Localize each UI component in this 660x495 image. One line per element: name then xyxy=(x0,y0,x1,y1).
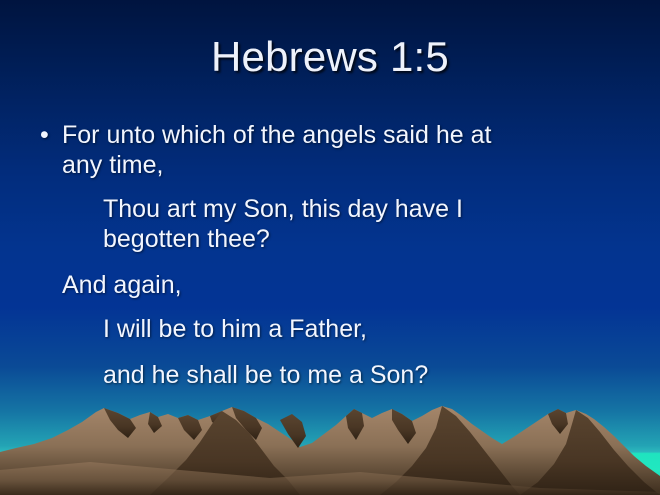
body-block-bullet: • For unto which of the angels said he a… xyxy=(62,120,620,180)
presentation-slide: Hebrews 1:5 • For unto which of the ange… xyxy=(0,0,660,495)
body-line: begotten thee? xyxy=(103,224,620,254)
body-line: I will be to him a Father, xyxy=(103,314,620,344)
body-line: For unto which of the angels said he at xyxy=(62,120,620,150)
body-block-quote-3: and he shall be to me a Son? xyxy=(103,360,620,390)
spacer xyxy=(0,254,660,270)
spacer xyxy=(0,344,660,360)
body-line: and he shall be to me a Son? xyxy=(103,360,620,390)
body-line: Thou art my Son, this day have I xyxy=(103,194,620,224)
body-line: any time, xyxy=(62,150,620,180)
spacer xyxy=(0,180,660,194)
spacer xyxy=(0,300,660,314)
mountain-range-graphic xyxy=(0,400,660,495)
slide-body: • For unto which of the angels said he a… xyxy=(0,120,660,390)
bullet-icon: • xyxy=(40,120,49,150)
body-block-and-again: And again, xyxy=(62,270,620,300)
slide-title: Hebrews 1:5 xyxy=(0,33,660,81)
body-block-quote-1: Thou art my Son, this day have I begotte… xyxy=(103,194,620,254)
body-line: And again, xyxy=(62,270,620,300)
body-block-quote-2: I will be to him a Father, xyxy=(103,314,620,344)
